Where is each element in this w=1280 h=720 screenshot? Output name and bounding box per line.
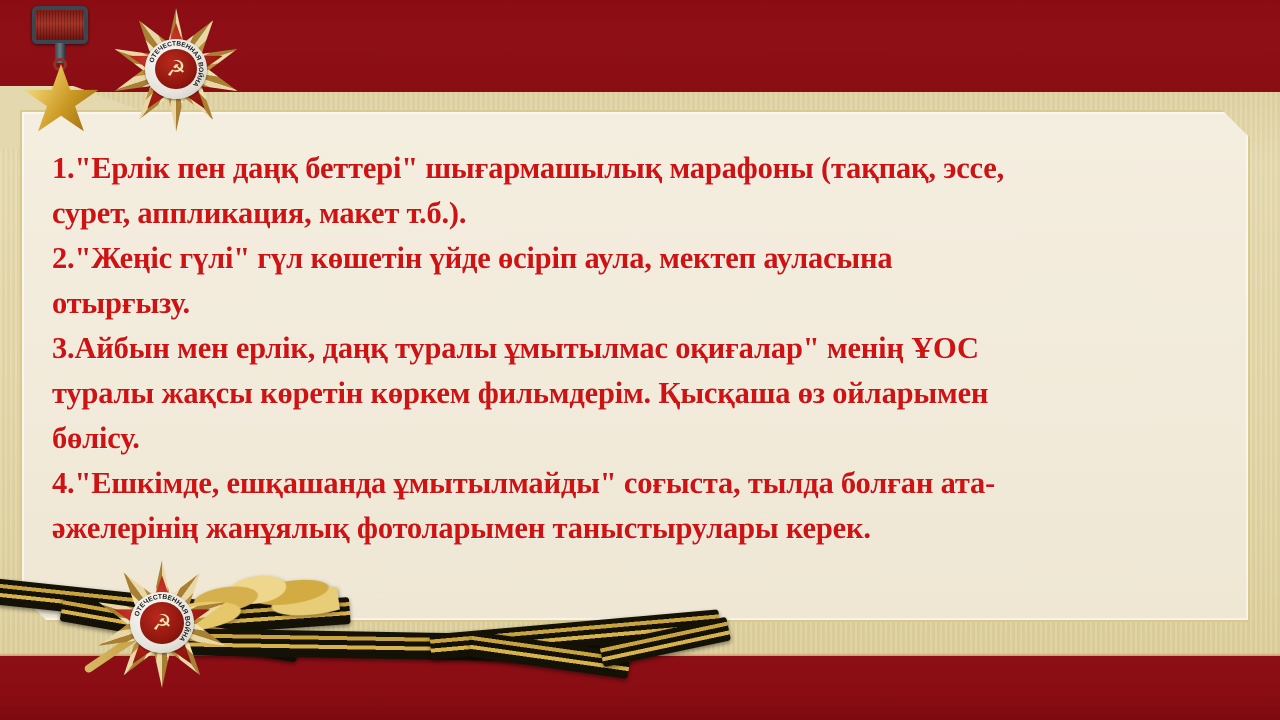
body-line-4: отырғызу. bbox=[52, 281, 1218, 326]
body-line-8: 4."Ешкімде, ешқашанда ұмытылмайды" соғыс… bbox=[52, 461, 1218, 506]
order-center-disc-icon: ОТЕЧЕСТВЕННАЯ ВОЙНА ☭ bbox=[145, 39, 206, 99]
order-inner-disc-icon: ☭ bbox=[140, 602, 183, 644]
body-line-7: бөлісу. bbox=[52, 416, 1218, 461]
body-line-3: 2."Жеңіс гүлі" гүл көшетін үйде өсіріп а… bbox=[52, 236, 1218, 281]
body-line-1: 1."Ерлік пен даңқ беттері" шығармашылық … bbox=[52, 146, 1218, 191]
medal-ribbon-bar-icon bbox=[32, 6, 88, 44]
gold-star-medal-icon bbox=[16, 2, 104, 128]
hammer-sickle-icon: ☭ bbox=[152, 612, 172, 634]
five-point-star-icon bbox=[22, 64, 100, 138]
body-line-6: туралы жақсы көретін көркем фильмдерім. … bbox=[52, 371, 1218, 416]
order-patriotic-war-bottom-icon: ОТЕЧЕСТВЕННАЯ ВОЙНА ☭ bbox=[96, 560, 228, 688]
body-line-9: әжелерінің жанұялық фотоларымен таныстыр… bbox=[52, 506, 1218, 551]
content-card-body: 1."Ерлік пен даңқ беттері" шығармашылық … bbox=[26, 108, 1244, 624]
order-center-disc-icon: ОТЕЧЕСТВЕННАЯ ВОЙНА ☭ bbox=[130, 592, 193, 653]
body-line-5: 3.Айбын мен ерлік, даңқ туралы ұмытылмас… bbox=[52, 326, 1218, 371]
body-line-2: сурет, аппликация, макет т.б.). bbox=[52, 191, 1218, 236]
hammer-sickle-icon: ☭ bbox=[166, 58, 186, 80]
order-inner-disc-icon: ☭ bbox=[155, 49, 197, 89]
order-patriotic-war-top-icon: ОТЕЧЕСТВЕННАЯ ВОЙНА ☭ bbox=[112, 8, 240, 132]
